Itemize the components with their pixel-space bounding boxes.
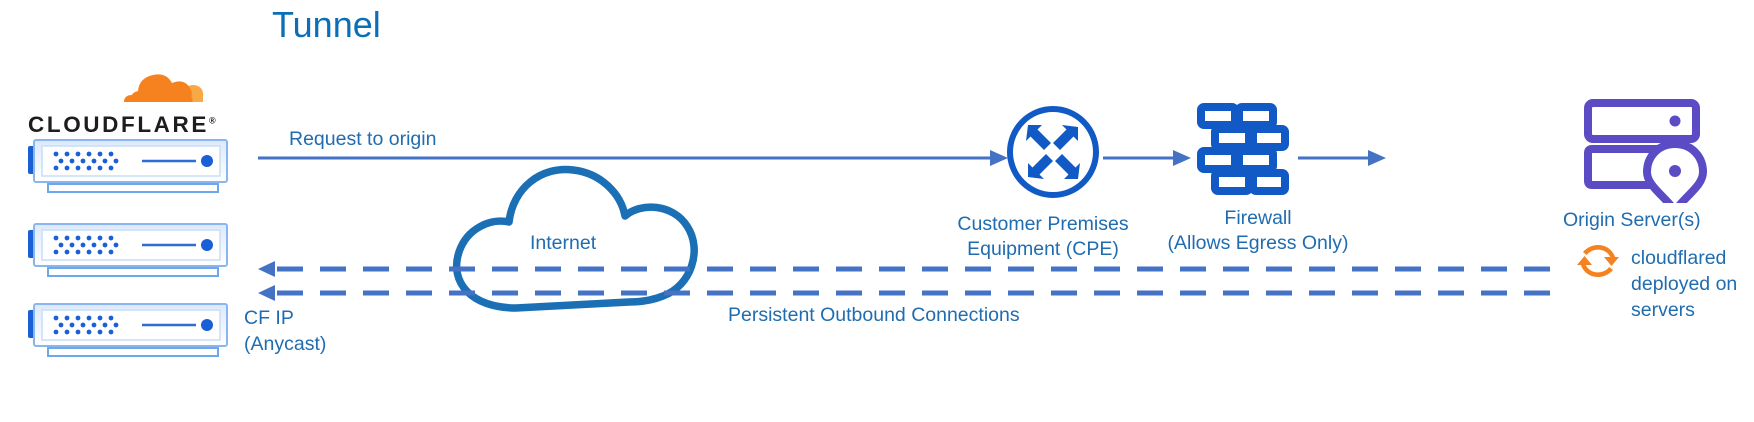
internet-label: Internet bbox=[530, 231, 596, 256]
firewall-to-origin-arrow bbox=[1298, 148, 1386, 173]
cloudflared-label-line3: servers bbox=[1631, 299, 1695, 321]
cloudflare-wordmark-text: CLOUDFLARE bbox=[28, 112, 209, 137]
cloudflare-wordmark: CLOUDFLARE® bbox=[28, 112, 228, 138]
cpe-label-line1: Customer Premises bbox=[957, 213, 1128, 235]
persistent-outbound-label: Persistent Outbound Connections bbox=[728, 303, 1020, 328]
cf-ip-label-line2: (Anycast) bbox=[244, 333, 326, 355]
trademark-symbol: ® bbox=[209, 116, 216, 126]
cloudflare-logo: CLOUDFLARE® bbox=[28, 72, 228, 142]
cloudflare-cloud-icon bbox=[28, 66, 228, 112]
cloudflare-server-unit bbox=[26, 138, 231, 196]
page-title: Tunnel bbox=[272, 4, 381, 46]
cloudflared-label-line1: cloudflared bbox=[1631, 247, 1726, 269]
origin-server-label: Origin Server(s) bbox=[1563, 208, 1701, 233]
cloudflared-label: cloudflared deployed on servers bbox=[1631, 245, 1754, 323]
cf-ip-label-line1: CF IP bbox=[244, 307, 294, 329]
cpe-to-firewall-arrow bbox=[1103, 148, 1191, 173]
cpe-label-line2: Equipment (CPE) bbox=[967, 238, 1119, 260]
cpe-label: Customer Premises Equipment (CPE) bbox=[947, 212, 1139, 262]
persistent-outbound-line-top bbox=[258, 260, 1558, 283]
sync-circular-arrows-icon bbox=[1576, 240, 1620, 287]
request-to-origin-label: Request to origin bbox=[289, 127, 436, 152]
firewall-label-line1: Firewall bbox=[1224, 207, 1291, 229]
firewall-label-line2: (Allows Egress Only) bbox=[1168, 232, 1349, 254]
cloudflared-label-line2: deployed on bbox=[1631, 273, 1737, 295]
router-four-arrows-icon bbox=[1004, 103, 1102, 206]
cloudflare-server-unit bbox=[26, 222, 231, 280]
cf-ip-anycast-label: CF IP (Anycast) bbox=[244, 305, 384, 357]
brick-wall-icon bbox=[1193, 99, 1293, 204]
cloudflare-server-unit bbox=[26, 302, 231, 360]
firewall-label: Firewall (Allows Egress Only) bbox=[1158, 206, 1358, 256]
server-location-pin-icon bbox=[1583, 98, 1708, 208]
